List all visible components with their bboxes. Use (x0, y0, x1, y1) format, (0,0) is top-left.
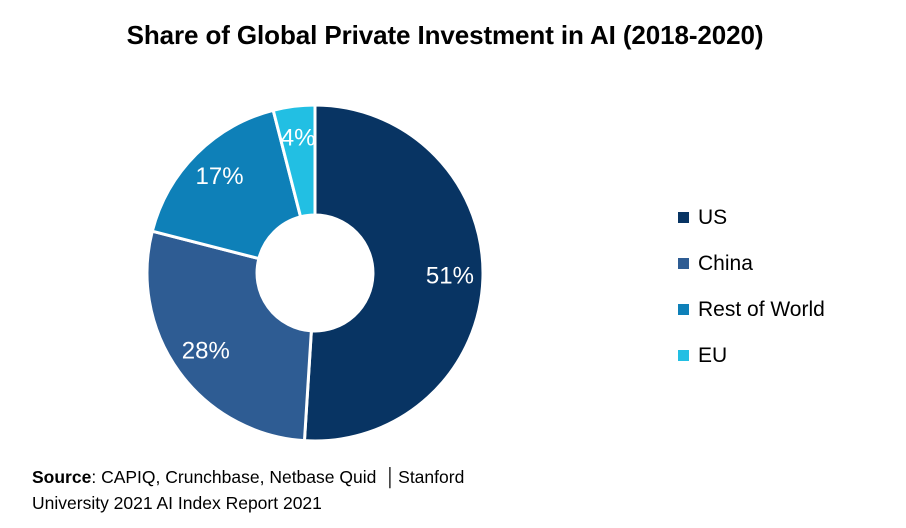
source-note-line-2: University 2021 AI Index Report 2021 (32, 490, 732, 516)
chart-legend: US China Rest of World EU (678, 194, 898, 378)
legend-swatch-icon-china (678, 258, 689, 269)
source-note-separator: │ (381, 467, 398, 487)
legend-item-eu[interactable]: EU (678, 332, 898, 378)
source-note-label: Source (32, 467, 91, 487)
source-note-line-1: Source: CAPIQ, Crunchbase, Netbase Quid … (32, 464, 732, 490)
source-note-text: CAPIQ, Crunchbase, Netbase Quid (101, 467, 381, 487)
legend-item-us[interactable]: US (678, 194, 898, 240)
chart-container: Share of Global Private Investment in AI… (0, 0, 906, 528)
legend-swatch-icon-eu (678, 350, 689, 361)
source-note-tail: Stanford (398, 467, 464, 487)
legend-label-china: China (698, 253, 753, 274)
legend-label-rest-of-world: Rest of World (698, 299, 825, 320)
legend-swatch-icon-us (678, 212, 689, 223)
donut-chart-svg: 51%28%17%4% (130, 88, 500, 458)
source-note-colon: : (91, 467, 101, 487)
donut-slice-label-eu: 4% (281, 124, 316, 151)
source-note: Source: CAPIQ, Crunchbase, Netbase Quid … (32, 464, 732, 516)
donut-slice-china[interactable] (147, 231, 311, 440)
donut-chart-plot-area: 51%28%17%4% (130, 88, 500, 458)
legend-item-rest-of-world[interactable]: Rest of World (678, 286, 898, 332)
donut-slice-label-rest-of-world: 17% (196, 163, 244, 190)
donut-slice-label-us: 51% (426, 263, 474, 290)
legend-item-china[interactable]: China (678, 240, 898, 286)
legend-label-eu: EU (698, 345, 727, 366)
chart-title: Share of Global Private Investment in AI… (0, 20, 890, 51)
legend-swatch-icon-rest-of-world (678, 304, 689, 315)
legend-label-us: US (698, 207, 727, 228)
donut-slice-label-china: 28% (182, 338, 230, 365)
